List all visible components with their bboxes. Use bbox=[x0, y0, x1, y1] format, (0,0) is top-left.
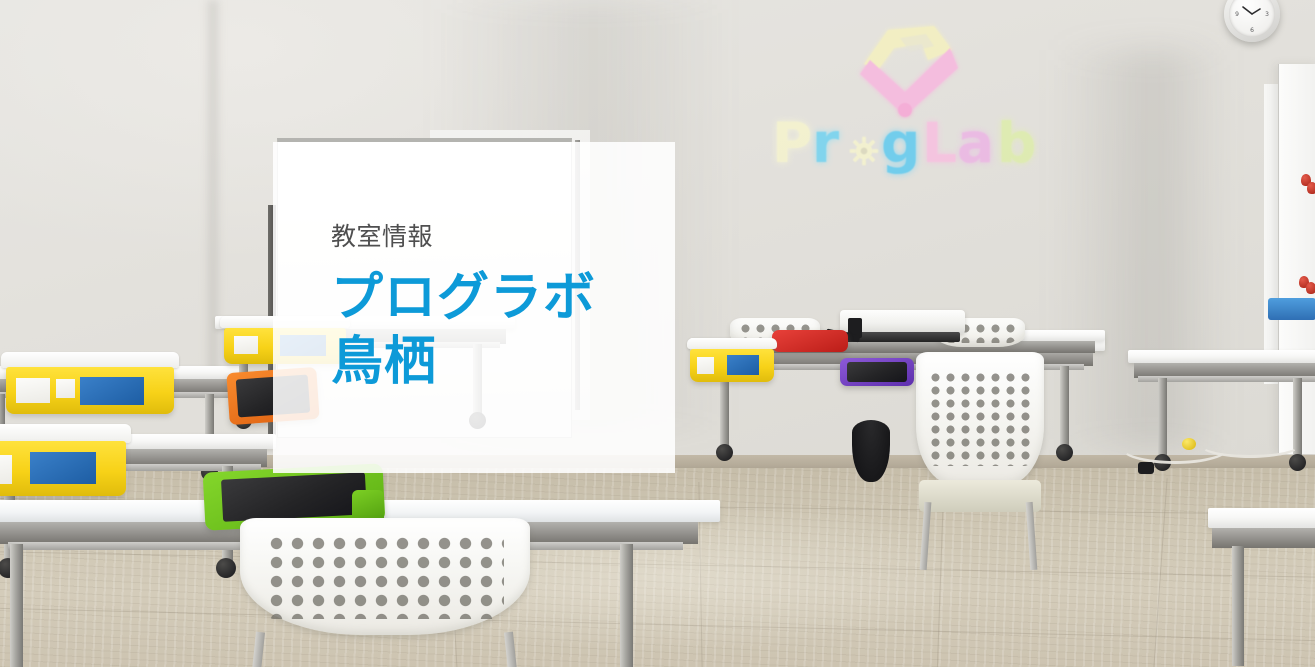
power-cable bbox=[1200, 432, 1300, 458]
whiteboard-marker-tray bbox=[1268, 298, 1315, 320]
lego-bin bbox=[0, 424, 126, 496]
wall-clock: 123 69 bbox=[1224, 0, 1280, 42]
tablet-red-case bbox=[772, 330, 848, 352]
proglab-logo-mark bbox=[830, 12, 980, 120]
classroom-info-card: 教室情報 プログラボ 鳥栖 bbox=[273, 142, 675, 473]
logo-letter-r: r bbox=[812, 114, 839, 172]
clock-hands-icon: 123 69 bbox=[1229, 0, 1275, 37]
folding-table-front-right bbox=[1208, 508, 1315, 667]
clock-face: 123 69 bbox=[1229, 0, 1275, 37]
tablet-purple-case bbox=[840, 358, 914, 386]
svg-text:3: 3 bbox=[1265, 11, 1269, 18]
logo-letter-a: a bbox=[957, 114, 994, 172]
cable-plug bbox=[1138, 462, 1154, 474]
svg-text:6: 6 bbox=[1250, 27, 1254, 34]
proglab-wordmark: P r g bbox=[754, 116, 1050, 178]
cable-clip-yellow bbox=[1182, 438, 1196, 450]
classroom-chair bbox=[240, 518, 530, 667]
svg-text:12: 12 bbox=[1248, 0, 1256, 2]
hero-classroom-photo: P r g bbox=[0, 0, 1315, 667]
lego-bin bbox=[6, 352, 174, 414]
magnet-icon bbox=[1307, 182, 1315, 194]
page-title-line-1: プログラボ bbox=[331, 266, 675, 330]
logo-letter-p: P bbox=[772, 114, 812, 172]
logo-letter-g: g bbox=[881, 114, 920, 172]
gear-icon bbox=[849, 136, 879, 166]
logo-letter-b: b bbox=[997, 114, 1036, 172]
magnet-icon bbox=[1306, 282, 1315, 294]
projected-proglab-logo: P r g bbox=[752, 8, 1052, 186]
logo-letter-l: L bbox=[922, 114, 957, 172]
card-eyebrow-label: 教室情報 bbox=[331, 222, 675, 252]
page-title-line-2: 鳥栖 bbox=[331, 330, 675, 394]
page-title: プログラボ 鳥栖 bbox=[331, 266, 675, 394]
lego-bin bbox=[690, 338, 774, 382]
svg-text:9: 9 bbox=[1235, 11, 1239, 18]
classroom-chair bbox=[916, 352, 1044, 566]
